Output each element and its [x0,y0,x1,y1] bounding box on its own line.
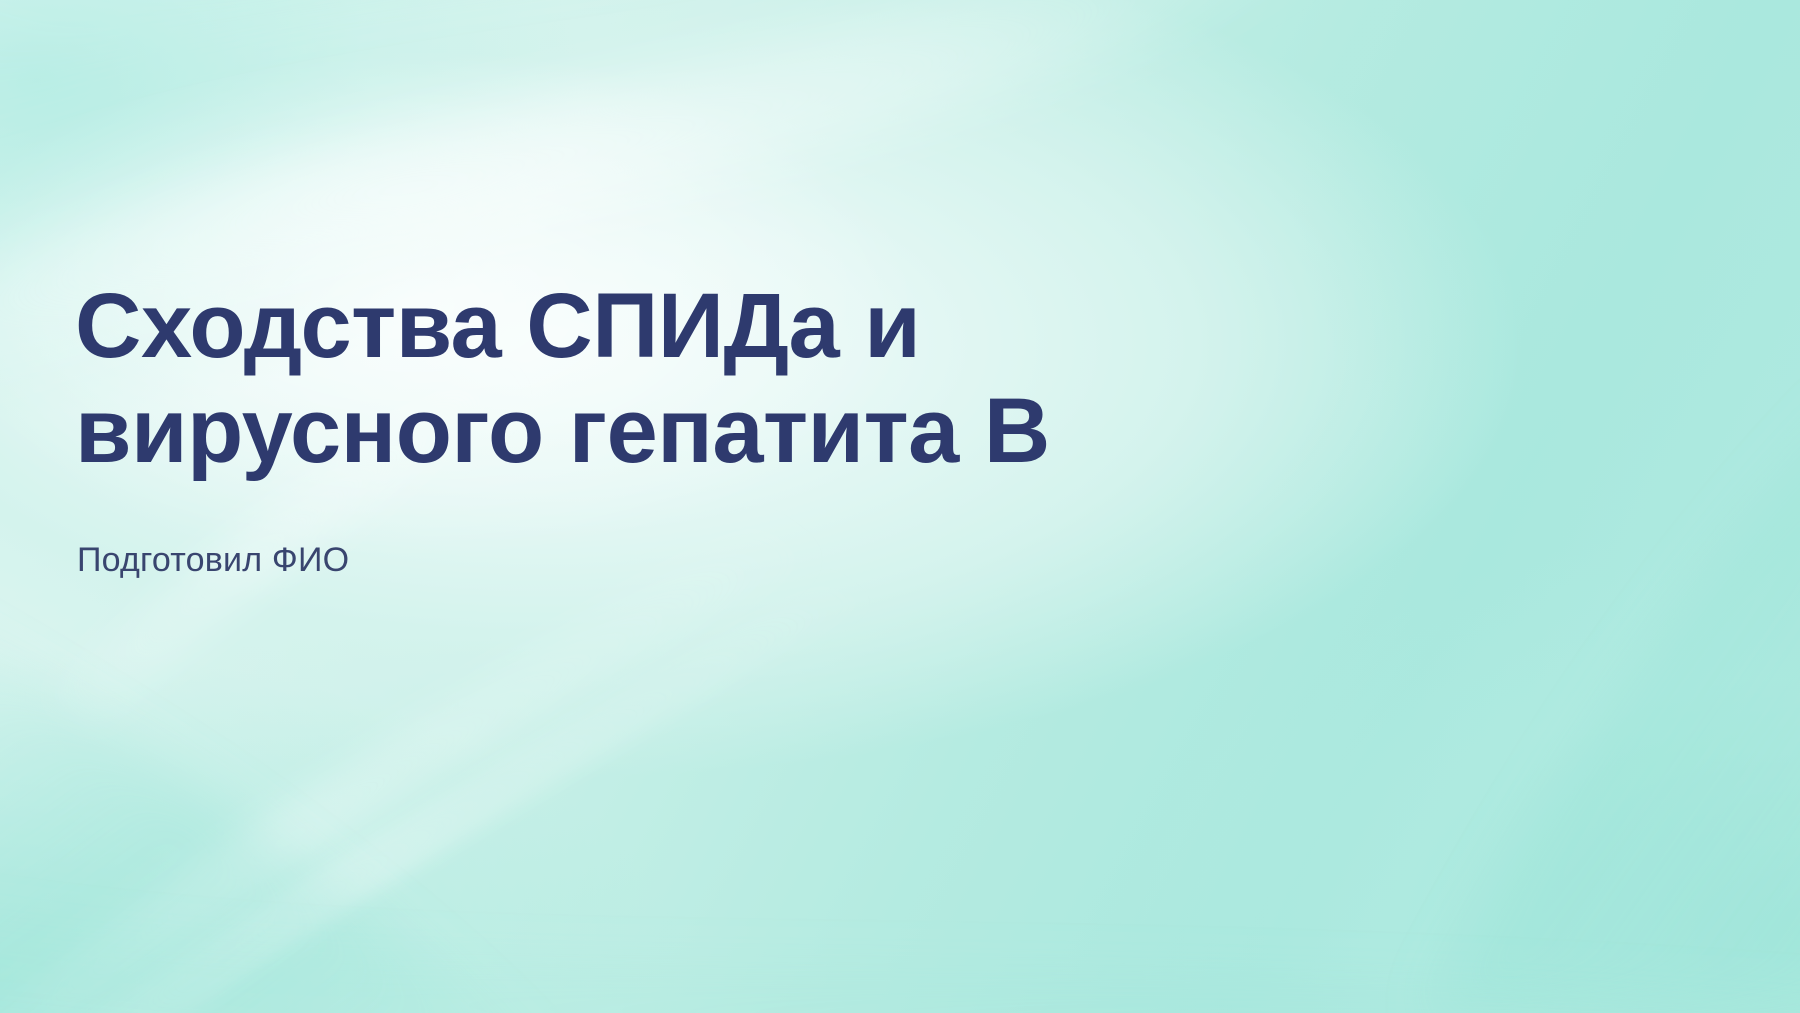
title-line-2: вирусного гепатита В [75,379,1365,484]
page-title: Сходства СПИДа и вирусного гепатита В [75,274,1365,484]
slide-subtitle: Подготовил ФИО [77,538,349,582]
title-line-1: Сходства СПИДа и [75,274,1365,379]
slide-content: Сходства СПИДа и вирусного гепатита В По… [75,0,1395,1013]
title-slide: Сходства СПИДа и вирусного гепатита В По… [0,0,1800,1013]
